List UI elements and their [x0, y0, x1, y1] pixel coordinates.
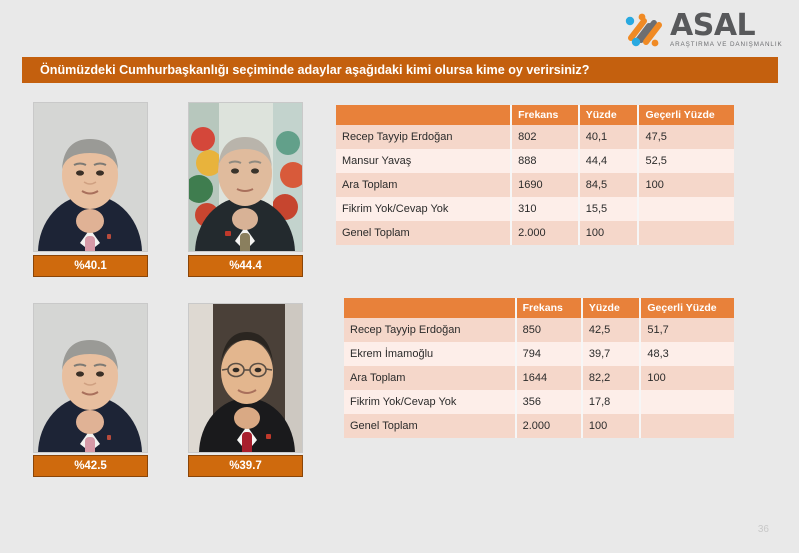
cell-gecerli: 100 [640, 366, 734, 390]
column-header-label [336, 105, 511, 125]
column-header-yuzde: Yüzde [579, 105, 639, 125]
table-row: Genel Toplam 2.000 100 [344, 414, 734, 438]
table-row: Fikrim Yok/Cevap Yok 310 15,5 [336, 197, 734, 221]
brand-name: ASAL [670, 12, 783, 40]
cell-gecerli: 51,7 [640, 318, 734, 342]
percent-chip-erdogan-bottom: %42.5 [33, 455, 148, 477]
row-label: Fikrim Yok/Cevap Yok [344, 390, 516, 414]
cell-gecerli [640, 390, 734, 414]
cell-frekans: 1690 [511, 173, 579, 197]
candidate-photo-erdogan-bottom [33, 303, 148, 453]
row-label: Ara Toplam [344, 366, 516, 390]
table-row: Ara Toplam 1644 82,2 100 [344, 366, 734, 390]
cell-gecerli: 47,5 [638, 125, 734, 149]
row-label: Fikrim Yok/Cevap Yok [336, 197, 511, 221]
percent-label: %40.1 [74, 260, 107, 272]
cell-gecerli: 52,5 [638, 149, 734, 173]
cell-gecerli [638, 221, 734, 245]
results-table-erdogan-yavas: Frekans Yüzde Geçerli Yüzde Recep Tayyip… [336, 105, 734, 245]
cell-frekans: 2.000 [511, 221, 579, 245]
cell-yuzde: 84,5 [579, 173, 639, 197]
column-header-gecerli-yuzde: Geçerli Yüzde [640, 298, 734, 318]
percent-label: %39.7 [229, 460, 262, 472]
percent-chip-erdogan-top: %40.1 [33, 255, 148, 277]
asal-diagonal-bars-logo-icon [624, 12, 668, 48]
cell-frekans: 356 [516, 390, 582, 414]
brand-logo-text: ASAL ARAŞTIRMA VE DANIŞMANLIK [670, 12, 783, 49]
cell-yuzde: 100 [579, 221, 639, 245]
table-row: Recep Tayyip Erdoğan 802 40,1 47,5 [336, 125, 734, 149]
cell-yuzde: 39,7 [582, 342, 641, 366]
candidate-photo-yavas [188, 102, 303, 252]
column-header-gecerli-yuzde: Geçerli Yüzde [638, 105, 734, 125]
cell-gecerli: 100 [638, 173, 734, 197]
percent-chip-imamoglu: %39.7 [188, 455, 303, 477]
cell-frekans: 850 [516, 318, 582, 342]
table-row: Mansur Yavaş 888 44,4 52,5 [336, 149, 734, 173]
brand-tagline: ARAŞTIRMA VE DANIŞMANLIK [670, 41, 783, 49]
cell-frekans: 794 [516, 342, 582, 366]
cell-yuzde: 82,2 [582, 366, 641, 390]
cell-frekans: 2.000 [516, 414, 582, 438]
brand-logo: ASAL ARAŞTIRMA VE DANIŞMANLIK [624, 8, 784, 52]
column-header-frekans: Frekans [511, 105, 579, 125]
candidate-photo-erdogan-top [33, 102, 148, 252]
cell-yuzde: 15,5 [579, 197, 639, 221]
cell-yuzde: 42,5 [582, 318, 641, 342]
table-row: Ekrem İmamoğlu 794 39,7 48,3 [344, 342, 734, 366]
row-label: Mansur Yavaş [336, 149, 511, 173]
table-row: Recep Tayyip Erdoğan 850 42,5 51,7 [344, 318, 734, 342]
cell-yuzde: 100 [582, 414, 641, 438]
results-table-erdogan-imamoglu: Frekans Yüzde Geçerli Yüzde Recep Tayyip… [344, 298, 734, 438]
table-header-row: Frekans Yüzde Geçerli Yüzde [344, 298, 734, 318]
row-label: Recep Tayyip Erdoğan [336, 125, 511, 149]
percent-label: %42.5 [74, 460, 107, 472]
cell-frekans: 310 [511, 197, 579, 221]
table-row: Fikrim Yok/Cevap Yok 356 17,8 [344, 390, 734, 414]
table-row: Genel Toplam 2.000 100 [336, 221, 734, 245]
question-text: Önümüzdeki Cumhurbaşkanlığı seçiminde ad… [40, 63, 589, 77]
table-header-row: Frekans Yüzde Geçerli Yüzde [336, 105, 734, 125]
percent-label: %44.4 [229, 260, 262, 272]
percent-chip-yavas: %44.4 [188, 255, 303, 277]
row-label: Recep Tayyip Erdoğan [344, 318, 516, 342]
page-number: 36 [758, 524, 769, 535]
cell-yuzde: 40,1 [579, 125, 639, 149]
cell-yuzde: 44,4 [579, 149, 639, 173]
row-label: Genel Toplam [344, 414, 516, 438]
row-label: Ara Toplam [336, 173, 511, 197]
table-row: Ara Toplam 1690 84,5 100 [336, 173, 734, 197]
cell-frekans: 802 [511, 125, 579, 149]
cell-gecerli: 48,3 [640, 342, 734, 366]
column-header-yuzde: Yüzde [582, 298, 641, 318]
cell-frekans: 888 [511, 149, 579, 173]
column-header-label [344, 298, 516, 318]
candidate-photo-imamoglu [188, 303, 303, 453]
row-label: Genel Toplam [336, 221, 511, 245]
row-label: Ekrem İmamoğlu [344, 342, 516, 366]
question-banner: Önümüzdeki Cumhurbaşkanlığı seçiminde ad… [22, 57, 778, 83]
cell-yuzde: 17,8 [582, 390, 641, 414]
cell-gecerli [638, 197, 734, 221]
cell-gecerli [640, 414, 734, 438]
column-header-frekans: Frekans [516, 298, 582, 318]
cell-frekans: 1644 [516, 366, 582, 390]
